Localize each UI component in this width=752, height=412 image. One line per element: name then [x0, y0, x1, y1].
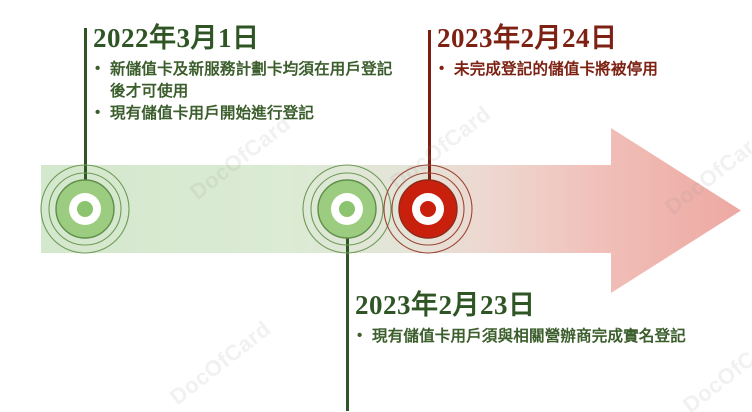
milestone-block-2: 2023年2月23日 現有儲值卡用戶須與相關營辦商完成實名登記	[355, 290, 695, 348]
list-item: 現有儲值卡用戶須與相關營辦商完成實名登記	[355, 326, 695, 348]
list-item: 現有儲值卡用戶開始進行登記	[93, 103, 393, 125]
milestone-block-1: 2022年3月1日 新儲值卡及新服務計劃卡均須在用戶登記後才可使用 現有儲值卡用…	[93, 23, 393, 125]
milestone-3-date: 2023年2月24日	[437, 23, 687, 54]
milestone-block-3: 2023年2月24日 未完成登記的儲值卡將被停用	[437, 23, 687, 81]
milestone-2-bullet-list: 現有儲值卡用戶須與相關營辦商完成實名登記	[355, 326, 695, 348]
milestone-1-date: 2022年3月1日	[93, 23, 393, 54]
timeline-marker-milestone-1[interactable]	[38, 162, 132, 256]
watermark: DocOfCard	[165, 316, 276, 411]
timeline-marker-milestone-3[interactable]	[381, 162, 475, 256]
milestone-3-bullet-list: 未完成登記的儲值卡將被停用	[437, 59, 687, 81]
milestone-2-date: 2023年2月23日	[355, 290, 695, 321]
timeline-marker-milestone-2[interactable]	[300, 162, 394, 256]
list-item: 新儲值卡及新服務計劃卡均須在用戶登記後才可使用	[93, 59, 393, 103]
list-item: 未完成登記的儲值卡將被停用	[437, 59, 687, 81]
timeline-infographic: 2022年3月1日 新儲值卡及新服務計劃卡均須在用戶登記後才可使用 現有儲值卡用…	[0, 0, 752, 412]
milestone-1-bullet-list: 新儲值卡及新服務計劃卡均須在用戶登記後才可使用 現有儲值卡用戶開始進行登記	[93, 59, 393, 125]
